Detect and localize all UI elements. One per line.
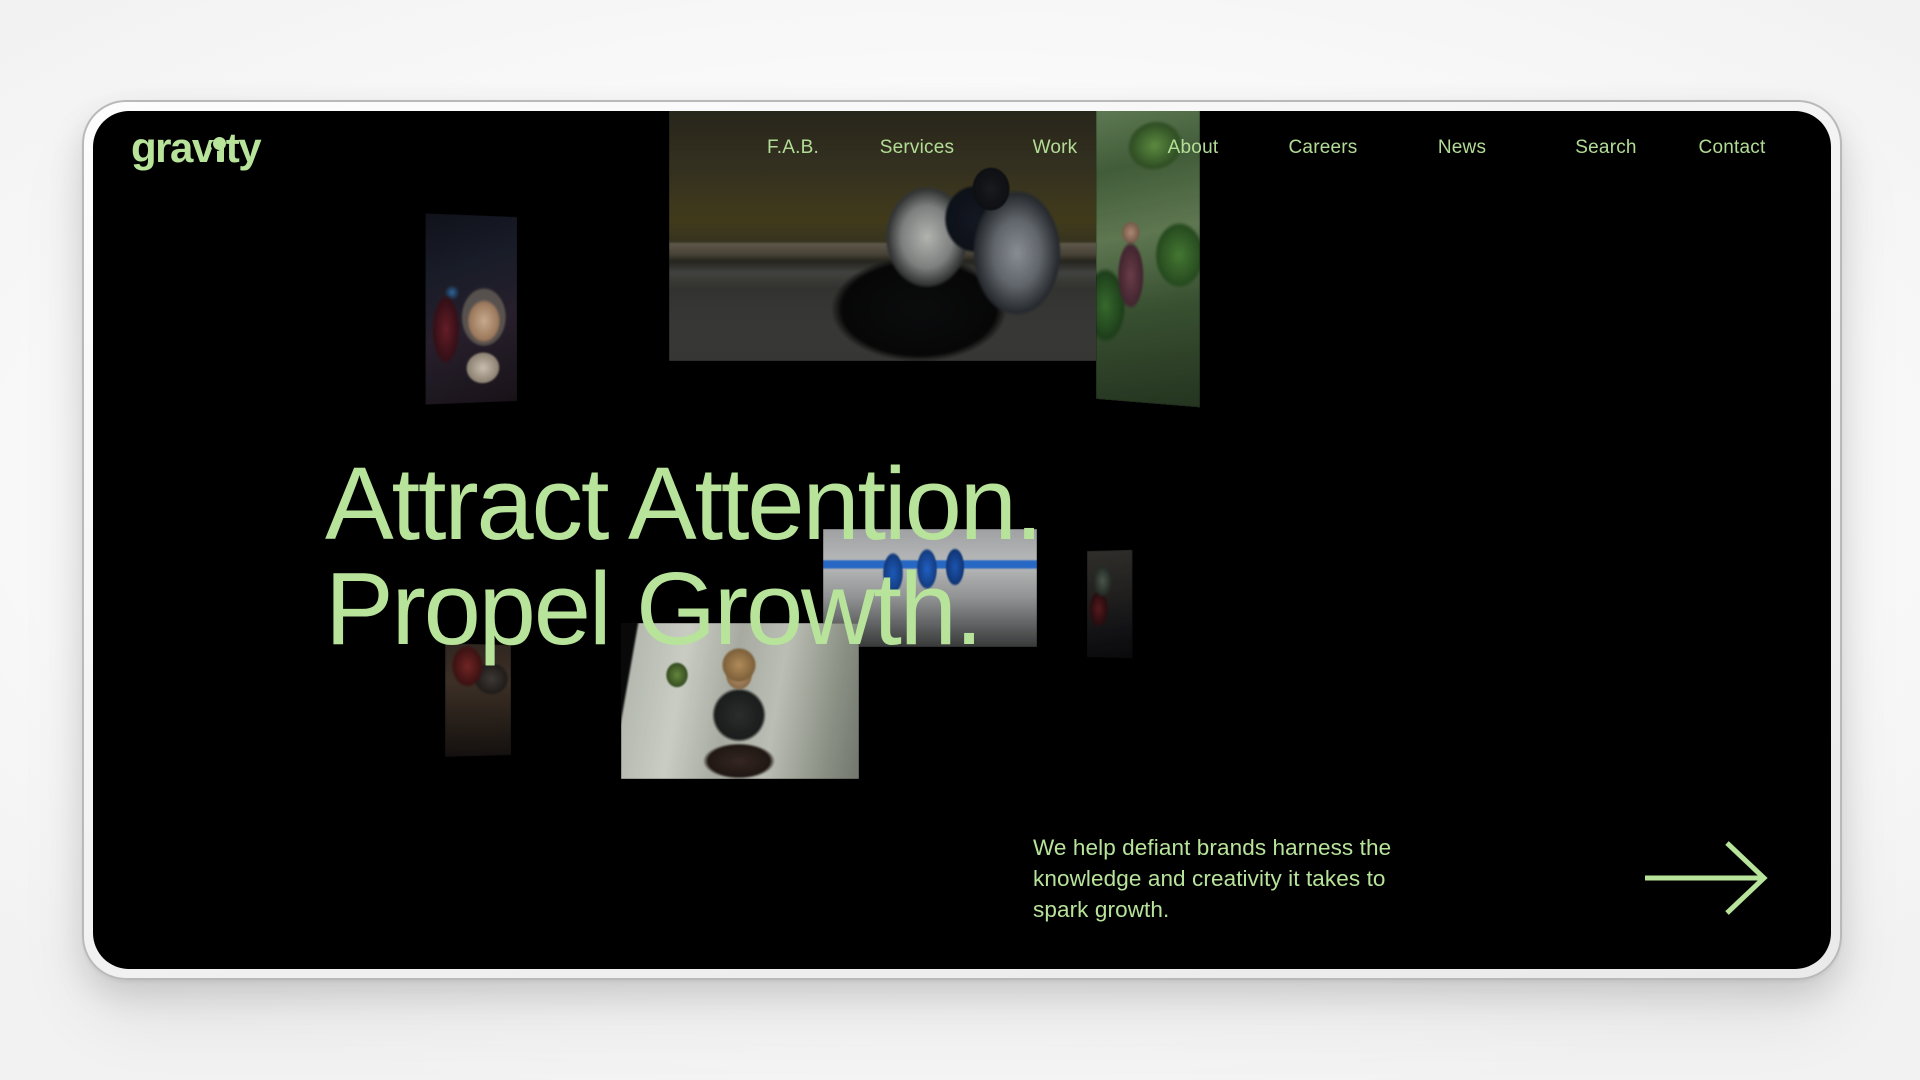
primary-nav: F.A.B. Services Work About Careers News … <box>731 129 1785 167</box>
astronaut-image <box>426 213 517 404</box>
nav-item-fab[interactable]: F.A.B. <box>731 129 855 167</box>
nav-item-careers[interactable]: Careers <box>1255 129 1391 167</box>
nav-item-about[interactable]: About <box>1131 129 1255 167</box>
gravity-logo[interactable]: gravty <box>131 127 260 169</box>
logo-text-ty: ty <box>226 127 260 169</box>
nav-item-services[interactable]: Services <box>855 129 979 167</box>
logo-text-grav: grav <box>131 127 214 169</box>
site-viewport: Motorcyclist riding on a highway Astrona… <box>93 111 1831 969</box>
nav-item-work[interactable]: Work <box>979 129 1131 167</box>
media-tile-astronaut[interactable]: Astronaut in a spacesuit helmet <box>426 213 517 404</box>
arrow-right-icon[interactable] <box>1643 839 1773 917</box>
nav-item-news[interactable]: News <box>1391 129 1533 167</box>
dirt-rider-image <box>445 643 511 757</box>
media-tile-meditation[interactable]: Person meditating in a bright room <box>621 623 859 779</box>
hero-blurb: We help defiant brands harness the knowl… <box>1033 832 1433 925</box>
dark-detail-image <box>1087 550 1132 658</box>
browser-window-frame: Motorcyclist riding on a highway Astrona… <box>82 100 1842 980</box>
nav-item-contact[interactable]: Contact <box>1679 129 1785 167</box>
top-navigation-bar: gravty F.A.B. Services Work About Career… <box>93 111 1831 185</box>
nav-item-search[interactable]: Search <box>1533 129 1679 167</box>
hero-footer-row: We help defiant brands harness the knowl… <box>1033 832 1787 925</box>
meditation-image <box>621 623 859 779</box>
media-tile-dark-detail[interactable]: Dark abstract detail clip <box>1087 550 1132 658</box>
media-tile-dirt-rider[interactable]: Dark motocross dirt close-up <box>445 643 511 757</box>
